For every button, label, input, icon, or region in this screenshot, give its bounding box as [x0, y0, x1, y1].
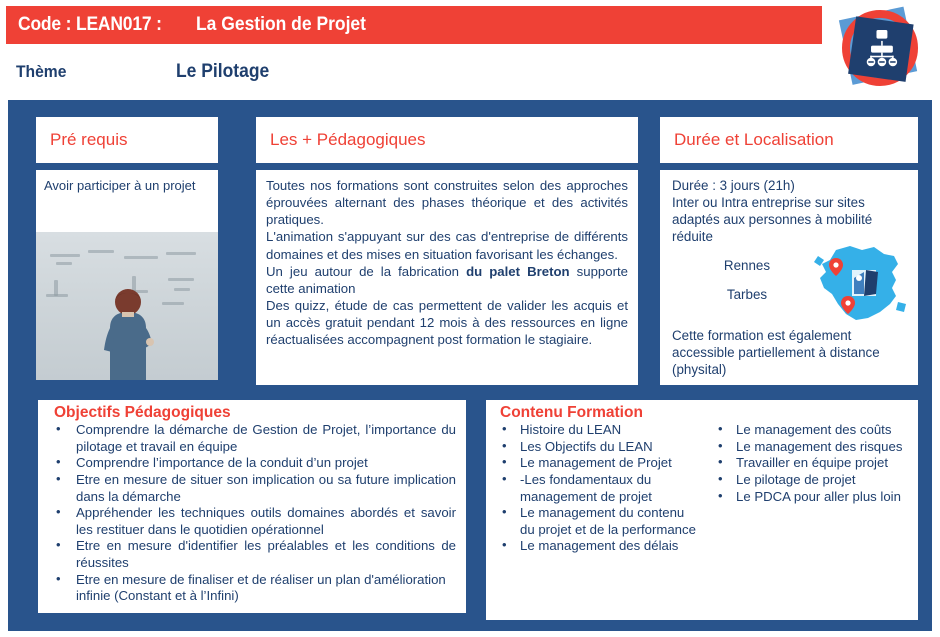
duration-footer: Cette formation est également accessible…	[672, 328, 910, 379]
content-box: Contenu Formation Histoire du LEAN Les O…	[486, 400, 918, 620]
prerequisites-heading: Pré requis	[50, 130, 127, 150]
duration-header: Durée et Localisation	[660, 117, 918, 163]
list-item: Le management du contenu du projet et de…	[500, 505, 698, 538]
objectives-heading: Objectifs Pédagogiques	[38, 400, 466, 422]
list-item: Le management des risques	[716, 439, 914, 456]
pedagogy-p3: Un jeu autour de la fabrication du palet…	[266, 263, 628, 297]
pedagogy-p1: Toutes nos formations sont construites s…	[266, 177, 628, 228]
list-item: Le management des délais	[500, 538, 698, 555]
duration-heading: Durée et Localisation	[674, 130, 834, 150]
pedagogy-heading: Les + Pédagogiques	[270, 130, 426, 150]
course-code-label: Code : LEAN017 :	[18, 14, 162, 36]
objectives-list: Comprendre la démarche de Gestion de Pro…	[38, 422, 466, 605]
list-item: Le PDCA pour aller plus loin	[716, 489, 914, 506]
logo-watermark	[852, 270, 878, 296]
duration-box: Durée : 3 jours (21h) Inter ou Intra ent…	[660, 170, 918, 385]
list-item: Le pilotage de projet	[716, 472, 914, 489]
logo-svg	[828, 2, 936, 98]
theme-value: Le Pilotage	[176, 61, 269, 83]
prerequisites-header: Pré requis	[36, 117, 218, 163]
pedagogy-text: Toutes nos formations sont construites s…	[256, 170, 638, 349]
course-code-bar: Code : LEAN017 : La Gestion de Projet	[6, 6, 822, 44]
list-item: Les Objectifs du LEAN	[500, 439, 698, 456]
city-tarbes: Tarbes	[672, 287, 822, 302]
pedagogy-p4: Des quizz, étude de cas permettent de va…	[266, 297, 628, 348]
prerequisites-text: Avoir participer à un projet	[36, 170, 218, 194]
list-item: Comprendre l’importance de la conduit d’…	[54, 455, 456, 472]
list-item: Etre en mesure de finaliser et de réalis…	[54, 572, 456, 605]
cities-list: Rennes Tarbes	[672, 258, 822, 316]
objectives-box: Objectifs Pédagogiques Comprendre la dém…	[38, 400, 466, 613]
content-column-right: Le management des coûts Le management de…	[702, 422, 918, 555]
list-item: Le management de Projet	[500, 455, 698, 472]
content-column-left: Histoire du LEAN Les Objectifs du LEAN L…	[486, 422, 702, 555]
france-map	[806, 242, 910, 328]
city-rennes: Rennes	[672, 258, 822, 273]
prerequisites-box: Avoir participer à un projet	[36, 170, 218, 380]
pedagogy-p2: L'animation s'appuyant sur des cas d'ent…	[266, 228, 628, 262]
list-item: Histoire du LEAN	[500, 422, 698, 439]
org-chart-logo	[828, 2, 936, 98]
person-figure	[100, 284, 156, 380]
list-item: Etre en mesure de situer son implication…	[54, 472, 456, 505]
main-panel: Pré requis Les + Pédagogiques Durée et L…	[8, 100, 932, 631]
content-heading: Contenu Formation	[486, 400, 918, 422]
list-item: Travailler en équipe projet	[716, 455, 914, 472]
theme-label: Thème	[16, 62, 163, 82]
list-item: Appréhender les techniques outils domain…	[54, 505, 456, 538]
list-item: Le management des coûts	[716, 422, 914, 439]
whiteboard-photo	[36, 232, 218, 380]
content-list-right: Le management des coûts Le management de…	[702, 422, 918, 505]
content-list-left: Histoire du LEAN Les Objectifs du LEAN L…	[486, 422, 702, 555]
list-item: Comprendre la démarche de Gestion de Pro…	[54, 422, 456, 455]
list-item: -Les fondamentaux du management de proje…	[500, 472, 698, 505]
theme-row: Thème Le Pilotage	[6, 56, 706, 88]
pedagogy-box: Toutes nos formations sont construites s…	[256, 170, 638, 385]
training-sheet-page: Code : LEAN017 : La Gestion de Projet Th…	[0, 0, 940, 637]
content-columns: Histoire du LEAN Les Objectifs du LEAN L…	[486, 422, 918, 555]
duration-text: Durée : 3 jours (21h) Inter ou Intra ent…	[660, 170, 918, 246]
pedagogy-header: Les + Pédagogiques	[256, 117, 638, 163]
list-item: Etre en mesure d'identifier les préalabl…	[54, 538, 456, 571]
course-title: La Gestion de Projet	[196, 14, 366, 36]
